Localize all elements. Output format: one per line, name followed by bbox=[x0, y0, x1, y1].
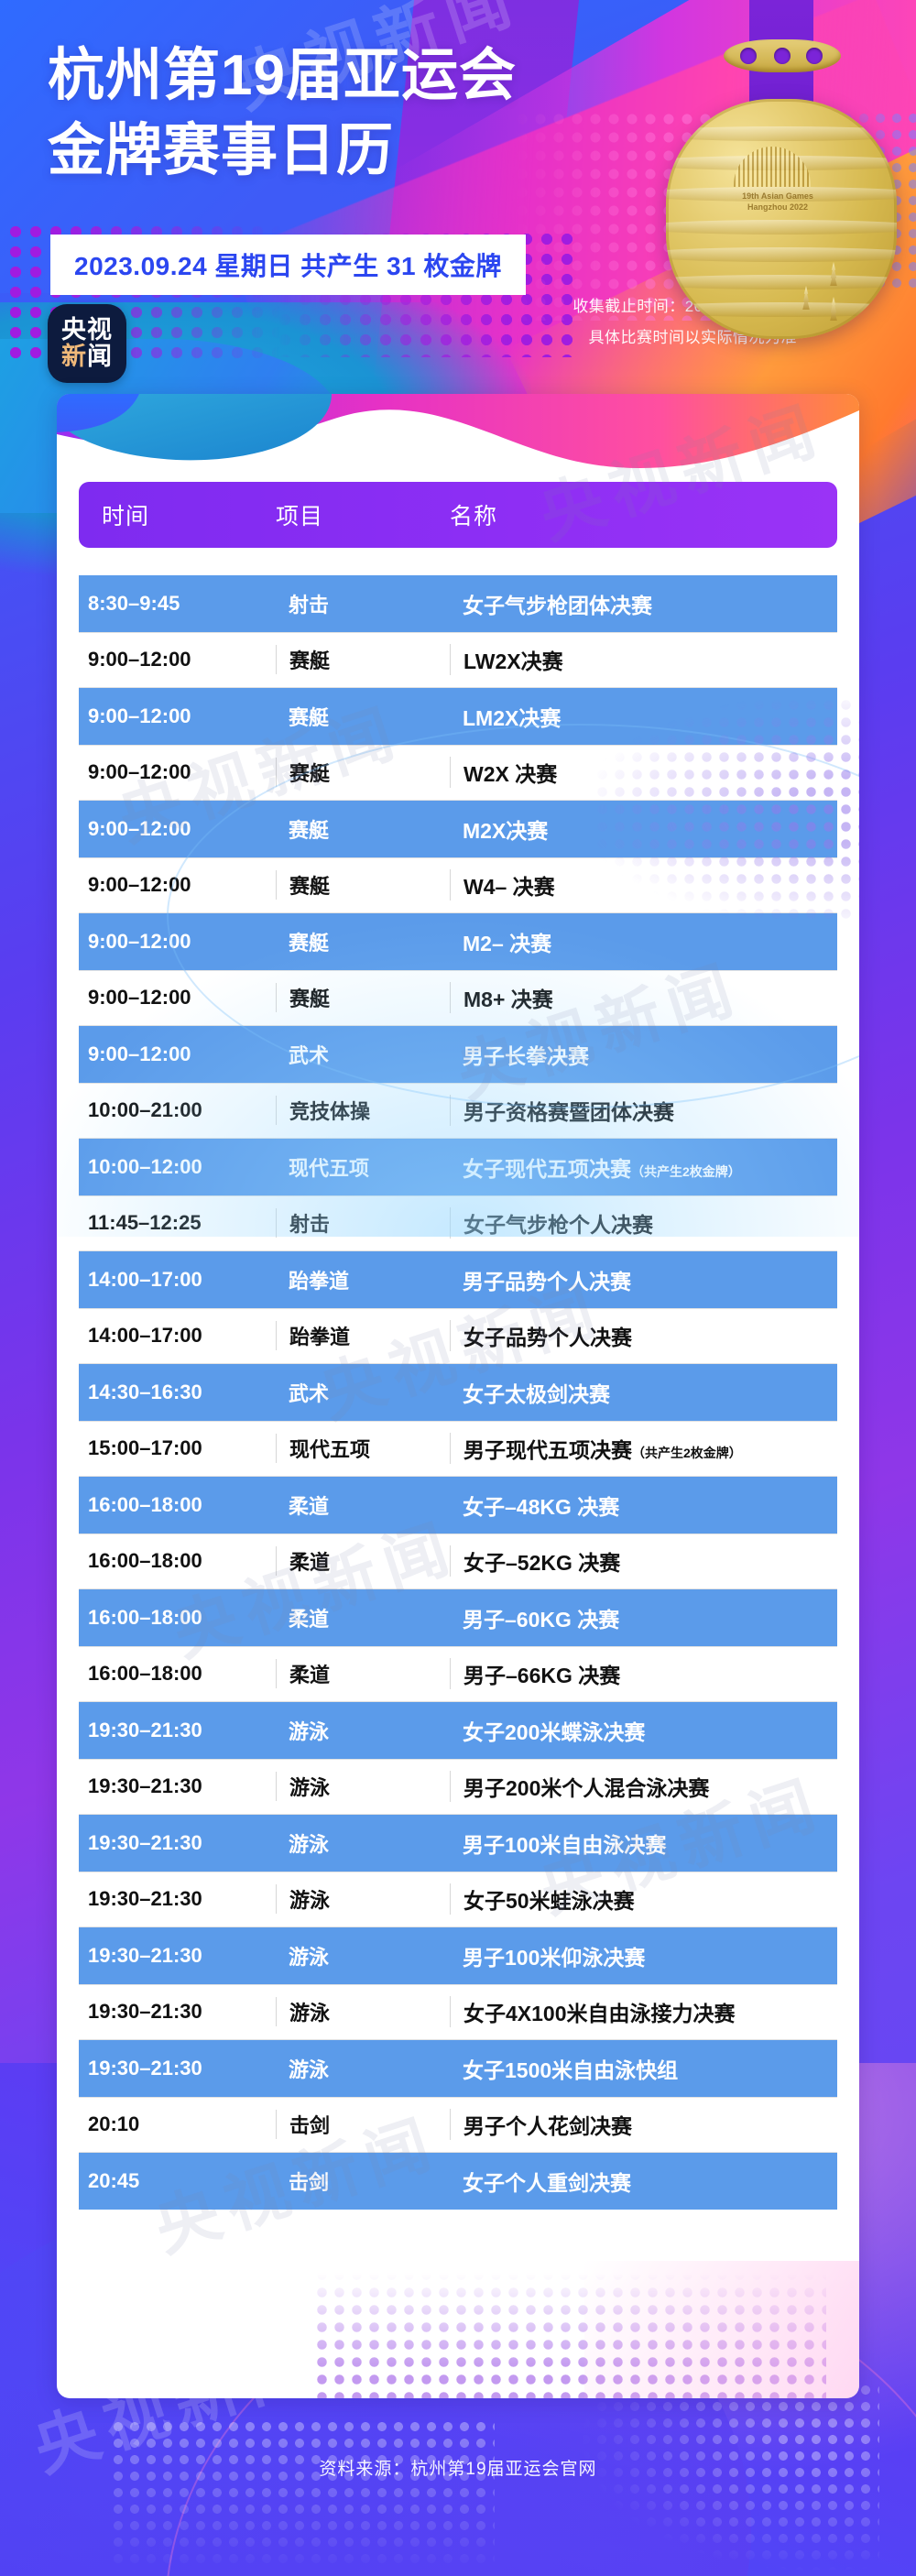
cell-event: M2– 决赛 bbox=[450, 926, 837, 957]
logo-char-xin: 新 bbox=[61, 344, 87, 370]
cell-sport: 武术 bbox=[276, 1040, 450, 1069]
table-row: 14:00–17:00跆拳道女子品势个人决赛 bbox=[79, 1308, 837, 1365]
table-row: 19:30–21:30游泳女子50米蛙泳决赛 bbox=[79, 1872, 837, 1928]
cctv-news-logo: 央 视 新 闻 bbox=[48, 304, 126, 383]
cell-sport: 赛艇 bbox=[276, 927, 450, 956]
page-title-line2: 金牌赛事日历 bbox=[48, 114, 616, 189]
table-row: 10:00–12:00现代五项女子现代五项决赛（共产生2枚金牌） bbox=[79, 1139, 837, 1195]
table-header-row: 时间 项目 名称 bbox=[79, 482, 837, 548]
table-row: 9:00–12:00赛艇M2X决赛 bbox=[79, 801, 837, 857]
cell-event: 男子现代五项决赛（共产生2枚金牌） bbox=[450, 1433, 837, 1464]
table-row: 19:30–21:30游泳女子200米蝶泳决赛 bbox=[79, 1702, 837, 1759]
cell-event: 男子品势个人决赛 bbox=[450, 1264, 837, 1295]
cell-time: 8:30–9:45 bbox=[79, 592, 276, 616]
cell-sport: 赛艇 bbox=[276, 702, 450, 731]
cell-time: 19:30–21:30 bbox=[79, 1831, 276, 1855]
table-row: 19:30–21:30游泳男子100米自由泳决赛 bbox=[79, 1815, 837, 1872]
poster-header: 杭州第19届亚运会 金牌赛事日历 2023.09.24 星期日 共产生 31 枚… bbox=[0, 0, 916, 412]
cell-event: 女子气步枪个人决赛 bbox=[450, 1207, 837, 1239]
page-title-line1: 杭州第19届亚运会 bbox=[48, 44, 517, 107]
cell-event-name: 男子–66KG 决赛 bbox=[463, 1664, 620, 1687]
table-row: 8:30–9:45射击女子气步枪团体决赛 bbox=[79, 575, 837, 632]
cell-event: 男子–66KG 决赛 bbox=[450, 1658, 837, 1689]
cell-time: 16:00–18:00 bbox=[79, 1606, 276, 1630]
cell-sport: 游泳 bbox=[276, 1716, 450, 1745]
medal-emblem-icon bbox=[734, 147, 811, 187]
cell-sport: 武术 bbox=[276, 1378, 450, 1407]
cell-event-name: M2X决赛 bbox=[463, 819, 548, 843]
cell-event-name: 男子现代五项决赛 bbox=[463, 1438, 632, 1462]
cell-time: 10:00–21:00 bbox=[79, 1098, 276, 1122]
cell-event-name: 女子–52KG 决赛 bbox=[463, 1551, 620, 1575]
cell-time: 20:45 bbox=[79, 2169, 276, 2193]
table-row: 14:00–17:00跆拳道男子品势个人决赛 bbox=[79, 1251, 837, 1308]
cell-event-name: 女子1500米自由泳快组 bbox=[463, 2058, 678, 2082]
column-header-time: 时间 bbox=[79, 498, 276, 531]
table-row: 16:00–18:00柔道男子–60KG 决赛 bbox=[79, 1589, 837, 1646]
table-row: 16:00–18:00柔道女子–52KG 决赛 bbox=[79, 1534, 837, 1590]
cell-sport: 游泳 bbox=[276, 1828, 450, 1858]
cell-event: LM2X决赛 bbox=[450, 701, 837, 732]
cell-event-name: 女子4X100米自由泳接力决赛 bbox=[463, 2002, 736, 2025]
cell-event: 男子个人花剑决赛 bbox=[450, 2109, 837, 2140]
cell-sport: 赛艇 bbox=[276, 645, 450, 674]
cell-event-name: 女子气步枪团体决赛 bbox=[463, 594, 652, 617]
cell-sport: 跆拳道 bbox=[276, 1321, 450, 1350]
cell-time: 9:00–12:00 bbox=[79, 704, 276, 728]
column-header-event: 名称 bbox=[450, 498, 837, 531]
cell-time: 11:45–12:25 bbox=[79, 1211, 276, 1235]
cell-time: 9:00–12:00 bbox=[79, 986, 276, 1010]
panel-wave-decoration-svg bbox=[57, 394, 859, 478]
cell-time: 19:30–21:30 bbox=[79, 2000, 276, 2024]
cell-event: 男子200米个人混合泳决赛 bbox=[450, 1771, 837, 1802]
cell-event: W4– 决赛 bbox=[450, 869, 837, 901]
cell-time: 19:30–21:30 bbox=[79, 1944, 276, 1968]
cell-sport: 赛艇 bbox=[276, 983, 450, 1012]
cell-time: 10:00–12:00 bbox=[79, 1155, 276, 1179]
column-header-sport: 项目 bbox=[276, 498, 450, 531]
cell-event: 男子长拳决赛 bbox=[450, 1039, 837, 1070]
cell-time: 16:00–18:00 bbox=[79, 1662, 276, 1686]
cell-sport: 现代五项 bbox=[276, 1152, 450, 1182]
table-row: 19:30–21:30游泳女子4X100米自由泳接力决赛 bbox=[79, 1984, 837, 2041]
medal-disc: 19th Asian Games Hangzhou 2022 bbox=[666, 99, 897, 339]
cell-sport: 游泳 bbox=[276, 2054, 450, 2083]
cell-time: 14:00–17:00 bbox=[79, 1268, 276, 1292]
table-row: 19:30–21:30游泳男子200米个人混合泳决赛 bbox=[79, 1759, 837, 1816]
cell-event-name: 男子资格赛暨团体决赛 bbox=[463, 1100, 674, 1124]
cell-time: 9:00–12:00 bbox=[79, 648, 276, 671]
cell-event-name: 女子太极剑决赛 bbox=[463, 1382, 610, 1406]
cell-sport: 赛艇 bbox=[276, 814, 450, 844]
cell-event: 女子现代五项决赛（共产生2枚金牌） bbox=[450, 1152, 837, 1183]
table-row: 14:30–16:30武术女子太极剑决赛 bbox=[79, 1364, 837, 1421]
cell-event-note: （共产生2枚金牌） bbox=[631, 1164, 741, 1179]
table-row: 10:00–21:00竞技体操男子资格赛暨团体决赛 bbox=[79, 1083, 837, 1140]
cell-sport: 柔道 bbox=[276, 1659, 450, 1688]
logo-char-shi: 视 bbox=[87, 317, 113, 344]
cell-sport: 游泳 bbox=[276, 1884, 450, 1914]
medal-clip-hole-2 bbox=[774, 48, 791, 64]
cell-time: 9:00–12:00 bbox=[79, 1042, 276, 1066]
cell-event: 男子–60KG 决赛 bbox=[450, 1602, 837, 1633]
cell-event: W2X 决赛 bbox=[450, 757, 837, 788]
cell-event: 女子200米蝶泳决赛 bbox=[450, 1715, 837, 1746]
cell-event: M2X决赛 bbox=[450, 813, 837, 845]
logo-char-wen: 闻 bbox=[87, 344, 113, 370]
gold-medal-graphic: 19th Asian Games Hangzhou 2022 bbox=[641, 0, 916, 385]
cell-time: 19:30–21:30 bbox=[79, 2057, 276, 2080]
logo-row-1: 央 视 bbox=[61, 317, 113, 344]
cell-event: 女子–52KG 决赛 bbox=[450, 1545, 837, 1577]
cell-time: 9:00–12:00 bbox=[79, 760, 276, 784]
table-row: 19:30–21:30游泳女子1500米自由泳快组 bbox=[79, 2040, 837, 2097]
table-row: 9:00–12:00赛艇W2X 决赛 bbox=[79, 745, 837, 802]
cell-time: 16:00–18:00 bbox=[79, 1493, 276, 1517]
cell-time: 15:00–17:00 bbox=[79, 1436, 276, 1460]
table-row: 9:00–12:00赛艇W4– 决赛 bbox=[79, 857, 837, 914]
cell-event-name: 女子200米蝶泳决赛 bbox=[463, 1720, 645, 1744]
cell-sport: 射击 bbox=[276, 589, 450, 618]
panel-pink-corner-decoration bbox=[584, 2261, 859, 2398]
cell-time: 19:30–21:30 bbox=[79, 1774, 276, 1798]
cell-sport: 射击 bbox=[276, 1208, 450, 1238]
medal-clip-hole-1 bbox=[740, 48, 757, 64]
table-row: 9:00–12:00赛艇LW2X决赛 bbox=[79, 632, 837, 689]
cell-event-name: 男子100米仰泳决赛 bbox=[463, 1946, 645, 1970]
cell-event: 女子1500米自由泳快组 bbox=[450, 2053, 837, 2084]
cell-sport: 竞技体操 bbox=[276, 1096, 450, 1125]
cell-event-name: 男子品势个人决赛 bbox=[463, 1270, 631, 1293]
table-row: 19:30–21:30游泳男子100米仰泳决赛 bbox=[79, 1927, 837, 1984]
cell-time: 9:00–12:00 bbox=[79, 930, 276, 954]
table-row: 9:00–12:00赛艇M8+ 决赛 bbox=[79, 970, 837, 1027]
cell-event-name: 女子–48KG 决赛 bbox=[463, 1495, 619, 1519]
cell-sport: 游泳 bbox=[276, 1941, 450, 1970]
cell-sport: 赛艇 bbox=[276, 758, 450, 787]
cell-time: 16:00–18:00 bbox=[79, 1549, 276, 1573]
cell-event: 女子太极剑决赛 bbox=[450, 1377, 837, 1408]
cell-event-note: （共产生2枚金牌） bbox=[632, 1446, 742, 1460]
cell-event: LW2X决赛 bbox=[450, 644, 837, 675]
cell-sport: 游泳 bbox=[276, 1772, 450, 1801]
cell-time: 19:30–21:30 bbox=[79, 1887, 276, 1911]
date-badge: 2023.09.24 星期日 共产生 31 枚金牌 bbox=[50, 235, 526, 295]
cell-event-name: 女子现代五项决赛 bbox=[463, 1157, 631, 1181]
cell-event-name: M8+ 决赛 bbox=[463, 988, 553, 1011]
cell-event: 男子资格赛暨团体决赛 bbox=[450, 1095, 837, 1126]
cell-event-name: 女子50米蛙泳决赛 bbox=[463, 1889, 635, 1913]
cell-event-name: M2– 决赛 bbox=[463, 932, 551, 955]
cell-sport: 现代五项 bbox=[276, 1434, 450, 1463]
cell-sport: 柔道 bbox=[276, 1546, 450, 1576]
cell-sport: 击剑 bbox=[276, 2167, 450, 2196]
cell-event-name: LW2X决赛 bbox=[463, 649, 563, 673]
cell-event: 女子品势个人决赛 bbox=[450, 1320, 837, 1351]
cell-event: 女子气步枪团体决赛 bbox=[450, 588, 837, 619]
medal-emblem-text: 19th Asian Games Hangzhou 2022 bbox=[723, 191, 833, 213]
schedule-table-body: 8:30–9:45射击女子气步枪团体决赛9:00–12:00赛艇LW2X决赛9:… bbox=[79, 575, 837, 2210]
cell-event: 男子100米仰泳决赛 bbox=[450, 1940, 837, 1971]
cell-time: 9:00–12:00 bbox=[79, 873, 276, 897]
cell-sport: 赛艇 bbox=[276, 870, 450, 900]
panel-top-decoration bbox=[57, 394, 859, 478]
cell-event-name: LM2X决赛 bbox=[463, 706, 561, 730]
cell-event-name: 男子长拳决赛 bbox=[463, 1044, 589, 1068]
cell-event: 女子个人重剑决赛 bbox=[450, 2166, 837, 2197]
cell-time: 14:30–16:30 bbox=[79, 1381, 276, 1404]
cell-event-name: 女子品势个人决赛 bbox=[463, 1326, 632, 1349]
cell-time: 9:00–12:00 bbox=[79, 817, 276, 841]
cell-event: 女子–48KG 决赛 bbox=[450, 1490, 837, 1521]
table-row: 9:00–12:00赛艇LM2X决赛 bbox=[79, 688, 837, 745]
table-row: 20:45击剑女子个人重剑决赛 bbox=[79, 2153, 837, 2210]
cell-event: 男子100米自由泳决赛 bbox=[450, 1828, 837, 1859]
cell-sport: 击剑 bbox=[276, 2110, 450, 2139]
cell-event-name: W4– 决赛 bbox=[463, 875, 555, 899]
table-row: 20:10击剑男子个人花剑决赛 bbox=[79, 2097, 837, 2154]
cell-event-name: 男子100米自由泳决赛 bbox=[463, 1833, 666, 1857]
cell-event-name: 女子个人重剑决赛 bbox=[463, 2171, 631, 2195]
cell-sport: 柔道 bbox=[276, 1490, 450, 1520]
cell-sport: 柔道 bbox=[276, 1603, 450, 1632]
table-row: 15:00–17:00现代五项男子现代五项决赛（共产生2枚金牌） bbox=[79, 1421, 837, 1478]
table-row: 11:45–12:25射击女子气步枪个人决赛 bbox=[79, 1195, 837, 1252]
medal-clip-icon bbox=[724, 39, 841, 72]
poster-root: 杭州第19届亚运会 金牌赛事日历 2023.09.24 星期日 共产生 31 枚… bbox=[0, 0, 916, 2576]
cell-event: 女子4X100米自由泳接力决赛 bbox=[450, 1996, 837, 2027]
cell-event-name: W2X 决赛 bbox=[463, 762, 557, 786]
page-title: 杭州第19届亚运会 金牌赛事日历 bbox=[48, 38, 616, 189]
cell-event: 女子50米蛙泳决赛 bbox=[450, 1883, 837, 1915]
cell-event-name: 男子200米个人混合泳决赛 bbox=[463, 1776, 709, 1800]
table-row: 16:00–18:00柔道男子–66KG 决赛 bbox=[79, 1646, 837, 1703]
table-row: 16:00–18:00柔道女子–48KG 决赛 bbox=[79, 1477, 837, 1534]
table-row: 9:00–12:00武术男子长拳决赛 bbox=[79, 1026, 837, 1083]
cell-event: M8+ 决赛 bbox=[450, 982, 837, 1013]
cell-sport: 跆拳道 bbox=[276, 1265, 450, 1294]
medal-emblem-line1: 19th Asian Games bbox=[723, 191, 833, 202]
table-row: 9:00–12:00赛艇M2– 决赛 bbox=[79, 913, 837, 970]
schedule-panel: 时间 项目 名称 8:30–9:45射击女子气步枪团体决赛9:00–12:00赛… bbox=[57, 394, 859, 2398]
cell-time: 19:30–21:30 bbox=[79, 1719, 276, 1742]
footer-source: 资料来源：杭州第19届亚运会官网 bbox=[0, 2455, 916, 2480]
logo-char-yang: 央 bbox=[61, 317, 87, 344]
cell-event-name: 女子气步枪个人决赛 bbox=[463, 1213, 653, 1237]
cell-sport: 游泳 bbox=[276, 1997, 450, 2026]
cell-time: 14:00–17:00 bbox=[79, 1324, 276, 1348]
cell-event-name: 男子–60KG 决赛 bbox=[463, 1608, 619, 1632]
logo-row-2: 新 闻 bbox=[61, 344, 113, 370]
cell-event-name: 男子个人花剑决赛 bbox=[463, 2114, 632, 2138]
medal-clip-hole-3 bbox=[806, 48, 823, 64]
cell-time: 20:10 bbox=[79, 2112, 276, 2136]
medal-emblem-line2: Hangzhou 2022 bbox=[723, 202, 833, 213]
panel-dot-pattern-bottom bbox=[313, 2266, 826, 2398]
